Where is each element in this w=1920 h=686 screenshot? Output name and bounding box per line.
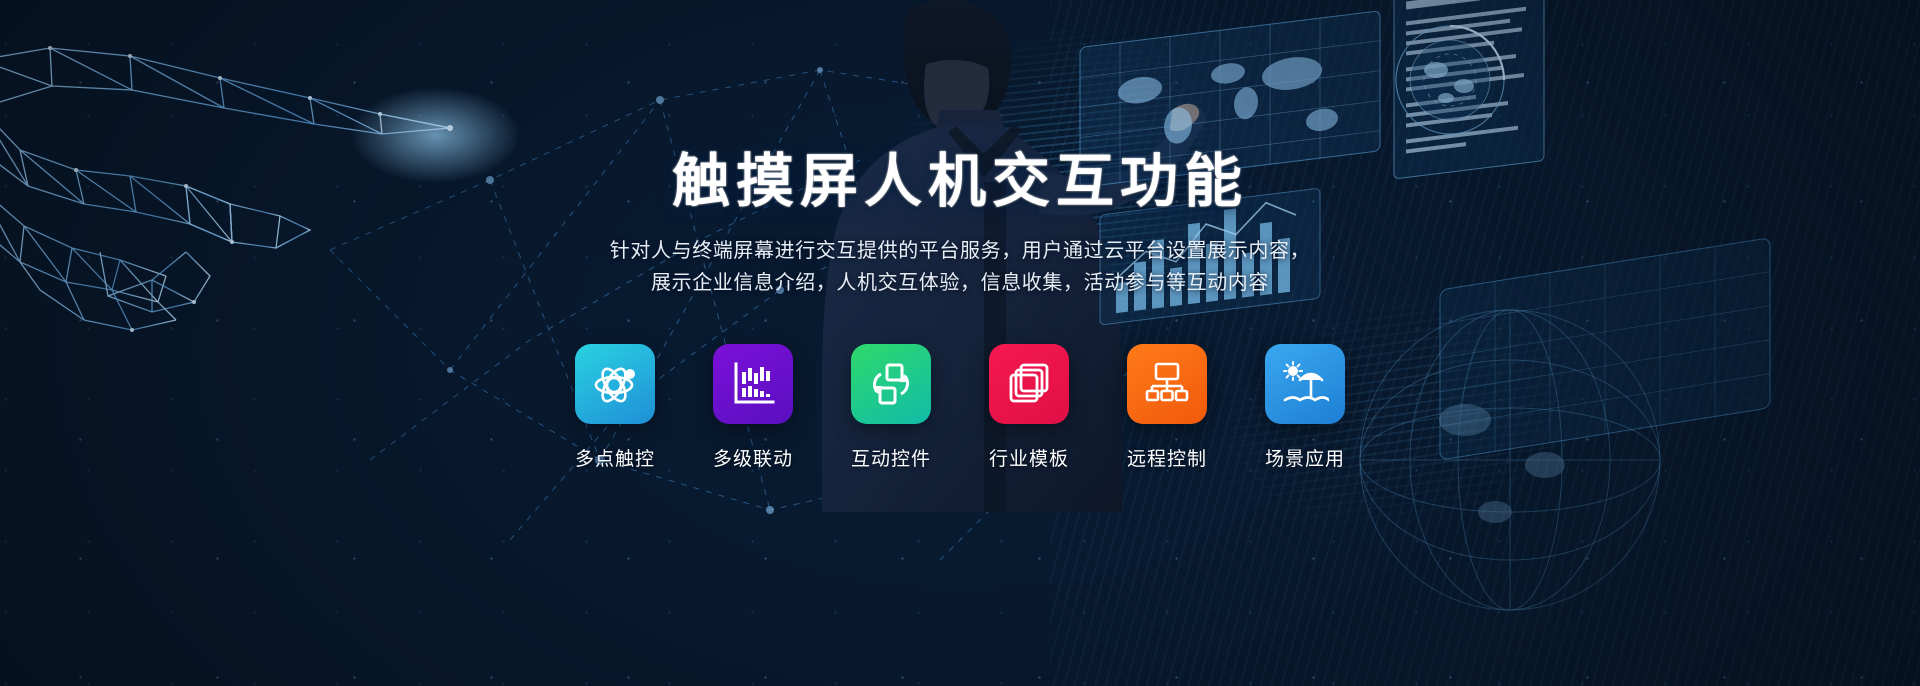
feature-list: 多点触控	[570, 344, 1350, 471]
page-title: 触摸屏人机交互功能	[672, 152, 1248, 213]
feature-label-templates: 行业模板	[989, 444, 1069, 471]
feature-label-widgets: 互动控件	[851, 444, 931, 471]
feature-label-multitouch: 多点触控	[575, 444, 655, 471]
hero-content: 触摸屏人机交互功能 针对人与终端屏幕进行交互提供的平台服务，用户通过云平台设置展…	[0, 0, 1920, 686]
feature-label-remote: 远程控制	[1127, 444, 1207, 471]
feature-item-widgets[interactable]: 互动控件	[846, 344, 936, 471]
feature-item-templates[interactable]: 行业模板	[984, 344, 1074, 471]
feature-label-linkage: 多级联动	[713, 444, 793, 471]
feature-tile-remote[interactable]	[1127, 344, 1207, 424]
feature-label-scenario: 场景应用	[1265, 444, 1345, 471]
feature-tile-templates[interactable]	[989, 344, 1069, 424]
hero-banner: 触摸屏人机交互功能 针对人与终端屏幕进行交互提供的平台服务，用户通过云平台设置展…	[0, 0, 1920, 686]
bar-chart-icon	[729, 360, 777, 408]
feature-tile-scenario[interactable]	[1265, 344, 1345, 424]
feature-item-linkage[interactable]: 多级联动	[708, 344, 798, 471]
hero-subtitle-line-2: 展示企业信息介绍，人机交互体验，信息收集，活动参与等互动内容	[610, 267, 1310, 299]
feature-item-multitouch[interactable]: 多点触控	[570, 344, 660, 471]
hero-subtitle-line-1: 针对人与终端屏幕进行交互提供的平台服务，用户通过云平台设置展示内容，	[610, 235, 1310, 267]
feature-tile-linkage[interactable]	[713, 344, 793, 424]
feature-item-scenario[interactable]: 场景应用	[1260, 344, 1350, 471]
remote-monitor-icon	[1143, 360, 1191, 408]
atom-icon	[590, 359, 640, 409]
feature-tile-widgets[interactable]	[851, 344, 931, 424]
feature-tile-multitouch[interactable]	[575, 344, 655, 424]
stacked-layers-icon	[1005, 360, 1053, 408]
hero-subtitle: 针对人与终端屏幕进行交互提供的平台服务，用户通过云平台设置展示内容， 展示企业信…	[610, 235, 1310, 300]
beach-scene-icon	[1281, 360, 1329, 408]
sync-blocks-icon	[867, 360, 915, 408]
feature-item-remote[interactable]: 远程控制	[1122, 344, 1212, 471]
